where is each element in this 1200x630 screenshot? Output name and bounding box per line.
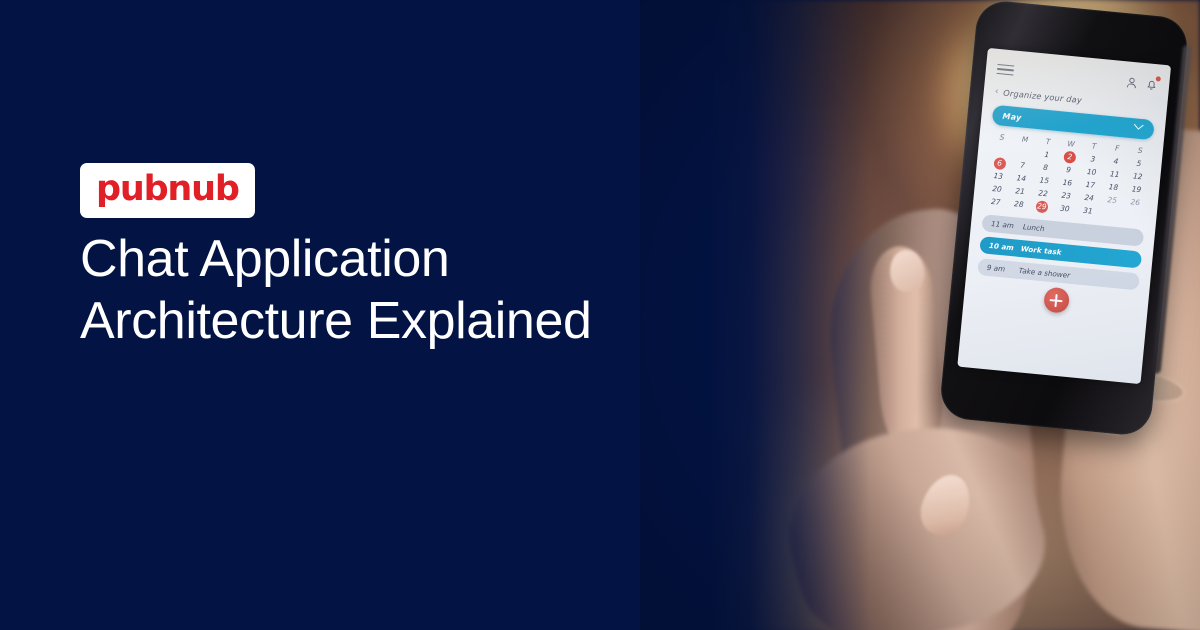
calendar-day-number: 11 xyxy=(1110,169,1120,179)
calendar-day-number: 17 xyxy=(1085,180,1095,190)
bell-icon[interactable] xyxy=(1145,76,1159,91)
calendar-day-number: 4 xyxy=(1113,157,1119,166)
phone-screen: ‹ Organize your day May SMTWTFS 1 xyxy=(957,48,1171,384)
calendar-weekday-5: F xyxy=(1105,143,1129,154)
calendar-day-number: 27 xyxy=(991,197,1001,207)
pubnub-logo-text: pubnub xyxy=(96,172,239,207)
hamburger-icon[interactable] xyxy=(996,61,1015,79)
calendar-weekday-1: M xyxy=(1013,134,1037,145)
calendar-day-number: 16 xyxy=(1062,178,1072,188)
breadcrumb-title: Organize your day xyxy=(1003,88,1083,106)
calendar-day-number: 6 xyxy=(997,158,1003,167)
calendar-day-number: 28 xyxy=(1014,199,1024,209)
calendar-day-number: 22 xyxy=(1038,188,1048,198)
calendar-day-empty xyxy=(1099,205,1123,220)
month-label: May xyxy=(1002,111,1022,122)
calendar-day-29[interactable]: 29 xyxy=(1030,199,1054,214)
page-title-line-2: Architecture Explained xyxy=(80,290,720,352)
task-name: Work task xyxy=(1020,244,1061,257)
calendar-day-number: 19 xyxy=(1131,184,1141,194)
calendar-day-27[interactable]: 27 xyxy=(984,194,1008,209)
hero-photo: ‹ Organize your day May SMTWTFS 1 xyxy=(640,0,1200,630)
calendar-app: ‹ Organize your day May SMTWTFS 1 xyxy=(957,48,1171,384)
calendar-day-number: 31 xyxy=(1083,206,1093,216)
calendar-day-number: 8 xyxy=(1043,163,1049,172)
chevron-left-icon[interactable]: ‹ xyxy=(994,87,998,96)
bell-badge xyxy=(1156,76,1161,81)
calendar-day-number: 26 xyxy=(1130,197,1140,207)
topbar-actions xyxy=(1125,74,1159,91)
task-time: 10 am xyxy=(989,241,1016,252)
calendar-day-number: 3 xyxy=(1090,154,1096,163)
calendar-weekday-6: S xyxy=(1128,145,1152,156)
task-list: 11 amLunch10 amWork task9 amTake a showe… xyxy=(977,214,1144,290)
calendar-day-number: 5 xyxy=(1136,159,1142,168)
calendar-day-number: 15 xyxy=(1039,176,1049,186)
calendar-day-28[interactable]: 28 xyxy=(1007,197,1031,212)
calendar-weekday-2: T xyxy=(1036,136,1060,147)
pubnub-logo[interactable]: pubnub xyxy=(80,163,255,218)
person-icon[interactable] xyxy=(1125,74,1139,89)
calendar-day-number: 25 xyxy=(1107,195,1117,205)
calendar-day-number: 7 xyxy=(1020,161,1026,170)
calendar-day-number: 21 xyxy=(1015,186,1025,196)
social-card: ‹ Organize your day May SMTWTFS 1 xyxy=(0,0,1200,630)
calendar-day-number: 12 xyxy=(1133,171,1143,181)
page-title: Chat Application Architecture Explained xyxy=(80,228,720,352)
calendar-day-number: 30 xyxy=(1060,204,1070,214)
calendar-day-number: 9 xyxy=(1066,165,1072,174)
calendar-grid: SMTWTFS 12345678910111213141516171819202… xyxy=(984,132,1153,223)
task-name: Lunch xyxy=(1023,222,1045,233)
task-name: Take a shower xyxy=(1018,266,1070,280)
calendar-day-number: 14 xyxy=(1016,173,1026,183)
calendar-day-30[interactable]: 30 xyxy=(1053,201,1077,216)
calendar-day-empty xyxy=(1122,208,1146,223)
calendar-day-number: 10 xyxy=(1087,167,1097,177)
calendar-weekday-4: T xyxy=(1082,140,1106,151)
plus-icon[interactable] xyxy=(1042,286,1069,313)
task-time: 11 am xyxy=(991,219,1018,230)
calendar-day-number: 29 xyxy=(1037,201,1047,211)
calendar-day-number: 23 xyxy=(1061,191,1071,201)
calendar-day-number: 20 xyxy=(992,184,1002,194)
task-time: 9 am xyxy=(986,263,1013,274)
calendar-day-31[interactable]: 31 xyxy=(1076,203,1100,218)
calendar-weekday-0: S xyxy=(990,132,1014,143)
calendar-day-2[interactable]: 2 xyxy=(1058,149,1082,164)
calendar-weekday-3: W xyxy=(1059,138,1083,149)
calendar-day-number: 24 xyxy=(1084,193,1094,203)
calendar-day-number: 13 xyxy=(993,171,1003,181)
calendar-day-number: 18 xyxy=(1108,182,1118,192)
chevron-down-icon[interactable] xyxy=(1132,123,1144,134)
page-title-line-1: Chat Application xyxy=(80,230,449,288)
calendar-day-number: 1 xyxy=(1044,150,1050,159)
text-content: pubnub Chat Application Architecture Exp… xyxy=(80,0,720,630)
smartphone: ‹ Organize your day May SMTWTFS 1 xyxy=(938,0,1189,437)
